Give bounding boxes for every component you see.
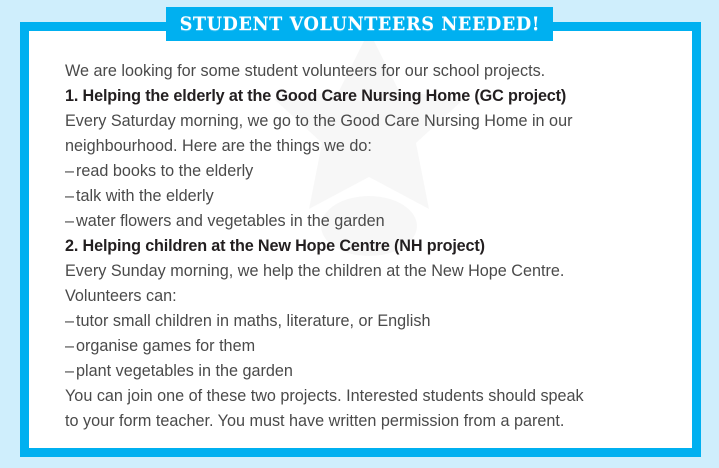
section-1-heading: 1. Helping the elderly at the Good Care … (65, 84, 674, 109)
section-2-description: Every Sunday morning, we help the childr… (65, 259, 674, 309)
closing-line-2: to your form teacher. You must have writ… (65, 409, 674, 434)
bullet-marker-icon: – (65, 334, 76, 359)
list-item: –plant vegetables in the garden (65, 359, 674, 384)
bullet-marker-icon: – (65, 309, 76, 334)
list-item-label: plant vegetables in the garden (76, 362, 293, 380)
bullet-marker-icon: – (65, 159, 76, 184)
poster-frame: We are looking for some student voluntee… (20, 22, 701, 457)
list-item: –read books to the elderly (65, 159, 674, 184)
list-item-label: talk with the elderly (76, 187, 214, 205)
list-item: –water flowers and vegetables in the gar… (65, 209, 674, 234)
poster-content: We are looking for some student voluntee… (65, 59, 674, 434)
list-item-label: water flowers and vegetables in the gard… (76, 212, 385, 230)
list-item: –tutor small children in maths, literatu… (65, 309, 674, 334)
bullet-marker-icon: – (65, 184, 76, 209)
bullet-marker-icon: – (65, 209, 76, 234)
intro-paragraph: We are looking for some student voluntee… (65, 59, 674, 84)
banner-title: STUDENT VOLUNTEERS NEEDED! (179, 13, 540, 35)
list-item-label: organise games for them (76, 337, 255, 355)
section-2-heading: 2. Helping children at the New Hope Cent… (65, 234, 674, 259)
list-item-label: tutor small children in maths, literatur… (76, 312, 430, 330)
list-item: –organise games for them (65, 334, 674, 359)
poster-card: We are looking for some student voluntee… (29, 31, 692, 448)
closing-line-1: You can join one of these two projects. … (65, 384, 674, 409)
section-1-description-line-1: Every Saturday morning, we go to the Goo… (65, 109, 674, 134)
poster: We are looking for some student voluntee… (0, 0, 719, 468)
section-1-description: Every Saturday morning, we go to the Goo… (65, 109, 674, 159)
list-item: –talk with the elderly (65, 184, 674, 209)
section-1-description-line-2: neighbourhood. Here are the things we do… (65, 134, 674, 159)
section-2-description-line-1: Every Sunday morning, we help the childr… (65, 259, 674, 284)
list-item-label: read books to the elderly (76, 162, 253, 180)
intro-line: We are looking for some student voluntee… (65, 59, 674, 84)
section-2-description-line-2: Volunteers can: (65, 284, 674, 309)
title-banner: STUDENT VOLUNTEERS NEEDED! (166, 7, 553, 41)
closing-paragraph: You can join one of these two projects. … (65, 384, 674, 434)
bullet-marker-icon: – (65, 359, 76, 384)
